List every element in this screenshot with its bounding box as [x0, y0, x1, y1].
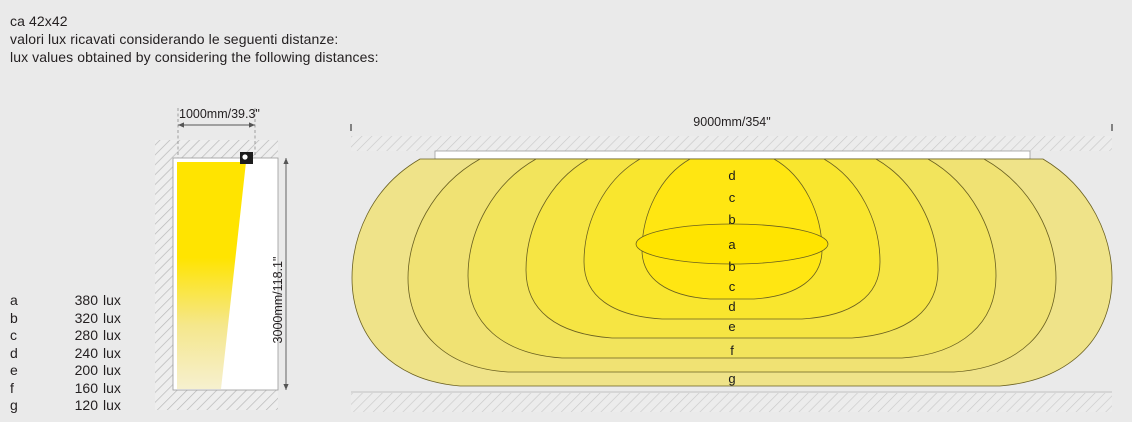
legend-unit: lux	[103, 292, 121, 310]
diagram-page: ca 42x42 valori lux ricavati considerand…	[0, 0, 1132, 422]
height-dimension-label: 3000mm/118.1"	[271, 257, 285, 344]
legend-unit: lux	[103, 310, 121, 328]
legend-row: e 200 lux	[10, 362, 121, 380]
contour-label-e: e	[728, 319, 735, 334]
arrow-left-icon	[178, 122, 184, 127]
contour-label-b-lower: b	[728, 259, 735, 274]
legend-row: c 280 lux	[10, 327, 121, 345]
plan-width-dimension-label: 9000mm/354"	[693, 115, 770, 129]
contour-label-f: f	[730, 343, 734, 358]
luminaire-strip	[435, 151, 1030, 159]
legend-unit: lux	[103, 397, 121, 415]
legend-value: 320	[44, 310, 103, 328]
legend-value: 280	[44, 327, 103, 345]
legend-unit: lux	[103, 327, 121, 345]
contour-label-d-upper: d	[728, 168, 735, 183]
floor-slab	[155, 390, 278, 410]
width-dimension-label: 1000mm/39.3"	[179, 107, 260, 121]
legend-key: e	[10, 362, 44, 380]
section-view: 1000mm/39.3" 3000mm/118.1"	[150, 100, 300, 420]
legend-value: 380	[44, 292, 103, 310]
contour-label-c-upper: c	[729, 190, 736, 205]
header-line-english: lux values obtained by considering the f…	[10, 48, 379, 66]
legend-key: d	[10, 345, 44, 363]
ceiling-slab	[155, 140, 278, 158]
arrow-down-icon	[283, 384, 288, 390]
legend-key: a	[10, 292, 44, 310]
luminaire-lens-icon	[242, 154, 247, 159]
legend-value: 120	[44, 397, 103, 415]
legend-key: b	[10, 310, 44, 328]
legend-unit: lux	[103, 345, 121, 363]
legend-value: 240	[44, 345, 103, 363]
left-wall	[155, 158, 173, 390]
header-line-italian: valori lux ricavati considerando le segu…	[10, 30, 379, 48]
legend-row: f 160 lux	[10, 380, 121, 398]
legend-row: d 240 lux	[10, 345, 121, 363]
ceiling-band	[351, 136, 1112, 151]
legend-key: c	[10, 327, 44, 345]
floor-band	[351, 393, 1112, 412]
header-text-block: ca 42x42 valori lux ricavati considerand…	[10, 12, 379, 66]
legend-row: g 120 lux	[10, 397, 121, 415]
contour-label-b-upper: b	[728, 212, 735, 227]
arrow-up-icon	[283, 158, 288, 164]
lux-legend: a 380 lux b 320 lux c 280 lux d 240 lux …	[10, 292, 121, 415]
legend-value: 200	[44, 362, 103, 380]
legend-row: a 380 lux	[10, 292, 121, 310]
legend-key: g	[10, 397, 44, 415]
contour-label-a-core: a	[728, 237, 736, 252]
legend-row: b 320 lux	[10, 310, 121, 328]
legend-key: f	[10, 380, 44, 398]
plan-view: 9000mm/354" d	[340, 118, 1125, 418]
legend-unit: lux	[103, 380, 121, 398]
legend-value: 160	[44, 380, 103, 398]
contour-label-g: g	[728, 371, 735, 386]
arrow-right-icon	[249, 122, 255, 127]
contour-label-c-lower: c	[729, 279, 736, 294]
legend-unit: lux	[103, 362, 121, 380]
contour-label-d-lower: d	[728, 299, 735, 314]
header-line-fixture-size: ca 42x42	[10, 12, 379, 30]
